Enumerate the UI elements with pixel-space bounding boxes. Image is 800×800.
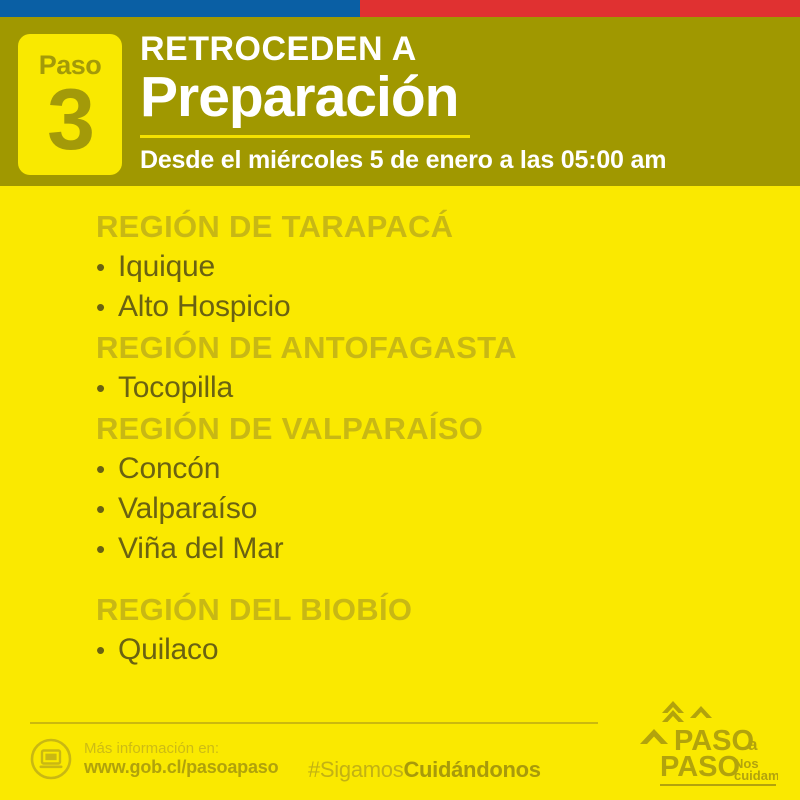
paso-badge-number: 3 [47,81,93,160]
comuna-item: •Viña del Mar [96,529,756,569]
comuna-list: •Tocopilla [96,368,756,408]
header-band: Paso 3 RETROCEDEN A Preparación Desde el… [0,17,800,186]
comuna-label: Iquique [118,247,215,287]
footer-info-url[interactable]: www.gob.cl/pasoapaso [84,757,278,778]
footer-more-info[interactable]: Más información en: www.gob.cl/pasoapaso [30,738,278,780]
region-block: REGIÓN DEL BIOBÍO•Quilaco [96,589,756,670]
region-name: REGIÓN DE VALPARAÍSO [96,408,756,449]
comuna-item: •Valparaíso [96,489,756,529]
comuna-list: •Quilaco [96,630,756,670]
logo-line1-sub: a [748,735,758,754]
bullet-icon: • [96,452,118,487]
region-name: REGIÓN DE TARAPACÁ [96,206,756,247]
comuna-item: •Concón [96,449,756,489]
comuna-item: •Quilaco [96,630,756,670]
region-list: REGIÓN DE TARAPACÁ•Iquique•Alto Hospicio… [96,206,756,670]
header-kicker: RETROCEDEN A [140,31,780,67]
region-block: REGIÓN DE TARAPACÁ•Iquique•Alto Hospicio [96,206,756,327]
logo-line2-sub-bottom: cuidamos [734,768,778,783]
region-block: REGIÓN DE ANTOFAGASTA•Tocopilla [96,327,756,408]
paso-a-paso-logo: PASO a PASO Nos cuidamos [620,692,778,788]
bullet-icon: • [96,371,118,406]
page-title: Preparación [140,68,780,126]
comuna-label: Alto Hospicio [118,287,290,327]
footer-hashtag: #SigamosCuidándonos [308,757,541,783]
bullet-icon: • [96,290,118,325]
header-effective-date: Desde el miércoles 5 de enero a las 05:0… [140,147,780,175]
footer-info-text: Más información en: www.gob.cl/pasoapaso [84,740,278,778]
bullet-icon: • [96,532,118,567]
comuna-item: •Tocopilla [96,368,756,408]
header-divider [140,135,470,138]
flag-blue-segment [0,0,360,17]
comuna-label: Viña del Mar [118,529,283,569]
comuna-label: Quilaco [118,630,218,670]
header-text-block: RETROCEDEN A Preparación Desde el miérco… [140,31,780,175]
flag-stripe [0,0,800,17]
comuna-item: •Alto Hospicio [96,287,756,327]
comuna-list: •Iquique•Alto Hospicio [96,247,756,327]
footer-info-label: Más información en: [84,740,278,757]
flag-red-segment [360,0,800,17]
comuna-list: •Concón•Valparaíso•Viña del Mar [96,449,756,569]
comuna-label: Valparaíso [118,489,257,529]
logo-line2-main: PASO [660,751,740,783]
bullet-icon: • [96,633,118,668]
hashtag-light-part: #Sigamos [308,757,403,782]
paso-step-badge: Paso 3 [18,34,122,175]
region-name: REGIÓN DE ANTOFAGASTA [96,327,756,368]
bullet-icon: • [96,250,118,285]
region-block: REGIÓN DE VALPARAÍSO•Concón•Valparaíso•V… [96,408,756,589]
region-name: REGIÓN DEL BIOBÍO [96,589,756,630]
comuna-label: Concón [118,449,220,489]
list-spacer [96,569,756,589]
footer-divider [30,722,598,724]
comuna-item: •Iquique [96,247,756,287]
comuna-label: Tocopilla [118,368,233,408]
logo-underline [660,784,776,786]
bullet-icon: • [96,492,118,527]
hashtag-bold-part: Cuidándonos [403,757,540,782]
computer-circle-icon [30,738,72,780]
